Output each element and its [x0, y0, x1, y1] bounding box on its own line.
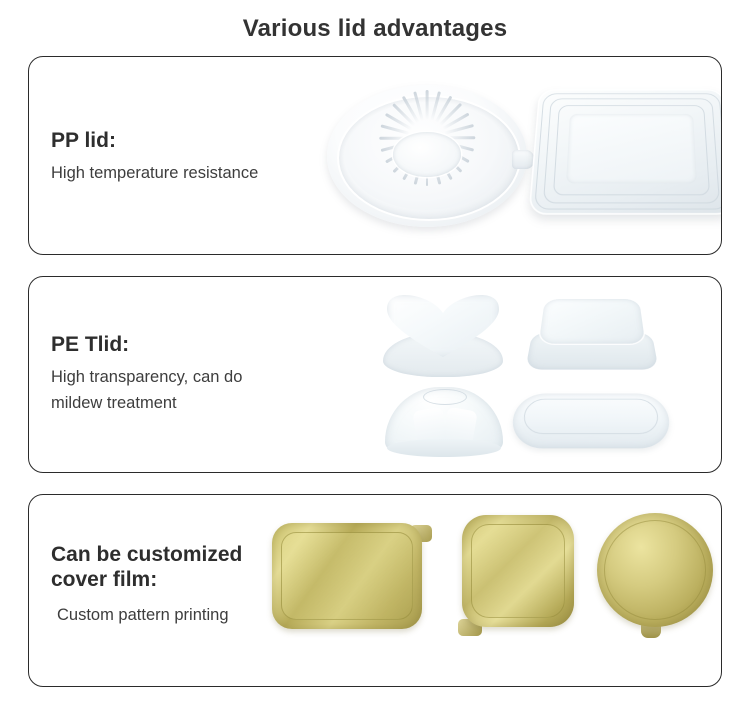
panel-description: Custom pattern printing	[51, 602, 242, 629]
square-lid-image	[529, 291, 655, 375]
heart-shaped-lid-image	[381, 295, 505, 377]
lid-inner-rim	[471, 524, 565, 618]
panel-text-pp-lid: PP lid: High temperature resistance	[51, 129, 258, 186]
round-dome-lid-image	[385, 385, 503, 457]
gold-rectangular-foil-lid-image	[272, 523, 422, 629]
panel-heading: PE Tlid:	[51, 333, 242, 358]
advantage-panel-cover-film: Can be customized cover film: Custom pat…	[28, 494, 722, 687]
round-pp-lid-image	[327, 85, 527, 227]
panel-text-pe-tlid: PE Tlid: High transparency, can do milde…	[51, 333, 242, 417]
lid-center-oval	[393, 132, 461, 177]
lid-tab	[512, 150, 534, 169]
lid-center-panel	[566, 114, 697, 183]
lid-top-oval	[423, 389, 467, 405]
panel-text-cover-film: Can be customized cover film: Custom pat…	[51, 543, 242, 628]
lid-inner-rim	[281, 532, 413, 620]
advantage-panel-pp-lid: PP lid: High temperature resistance	[28, 56, 722, 255]
panel-heading: PP lid:	[51, 129, 258, 154]
advantage-panel-list: PP lid: High temperature resistance	[28, 56, 722, 687]
panel-heading: Can be customized cover film:	[51, 543, 242, 593]
panel-description: High transparency, can do mildew treatme…	[51, 364, 242, 417]
lid-inner-groove	[522, 399, 659, 434]
lid-inner-rim	[604, 520, 706, 620]
oval-lid-image	[513, 389, 669, 451]
page-title: Various lid advantages	[0, 0, 750, 46]
gold-round-foil-lid-image	[597, 513, 713, 627]
panel-description: High temperature resistance	[51, 160, 258, 187]
advantage-panel-pe-tlid: PE Tlid: High transparency, can do milde…	[28, 276, 722, 473]
lid-top	[539, 299, 646, 344]
lid-ring	[387, 439, 501, 457]
rectangular-pp-lid-image	[528, 89, 722, 215]
gold-square-foil-lid-image	[462, 515, 574, 627]
